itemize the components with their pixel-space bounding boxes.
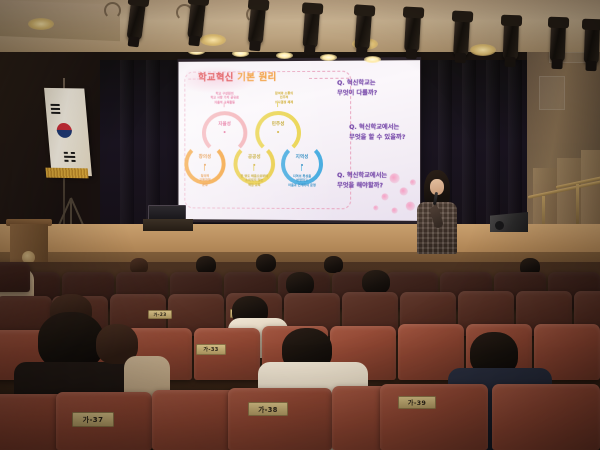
trigram-bar [71,160,75,162]
slide-title-part2: 기본 원리 [237,72,276,83]
stage-light-fixture [354,11,372,50]
auditorium-seat [0,262,30,292]
auditorium-scene: 학교혁신 기본 원리 학교 구성원의 학교 사항 가치 공유로 자율적 교육활동… [0,0,600,450]
seat-number-plate: 가-33 [196,344,226,355]
diagram-top-description-0: 학교 구성원의 학교 사항 가치 공유로 자율적 교육활동 [200,91,249,104]
diagram-node-stem-1 [277,102,278,107]
diagram-node-dot-0 [224,131,226,133]
audience-head [256,254,276,272]
light-yoke [104,2,121,19]
flag-fringe [45,168,88,179]
ceiling-downlight-icon [28,18,54,30]
downlight-icon [364,56,381,63]
trigram-bar [64,152,68,154]
stage-light-fixture [550,24,566,63]
projection-screen-frame: 학교혁신 기본 원리 학교 구성원의 학교 사항 가치 공유로 자율적 교육활동… [178,57,422,224]
cherry-blossom-icon [400,187,408,195]
auditorium-seat [492,384,600,450]
diagram-node-label-1: 민주성 [261,123,295,128]
stage-light-fixture [503,22,519,61]
auditorium-seat [228,388,332,450]
ceiling-downlight-icon [200,34,226,46]
av-table [143,219,193,231]
trigram-bar [64,156,75,158]
ceiling-downlight-icon [470,44,496,56]
diagram-node-stem-4 [301,166,302,171]
cherry-blossom-icon [406,202,415,211]
diagram-node-stem-3 [253,166,254,171]
diagram-node-stem-0 [224,102,225,107]
ceiling-beam-left [0,0,120,41]
korean-flag [44,88,92,176]
audience-head [324,256,343,273]
seat-number-plate: 가-39 [398,396,436,409]
downlight-icon [320,54,337,61]
trigram-bar [64,160,68,162]
diagram-node-dot-1 [277,131,279,133]
trigram-bar [51,108,60,110]
stage-light-fixture [404,14,421,53]
diagram-bottom-description-1: 한 명도 배움으로부터 소외되지 않는 책임 교육 [233,174,275,187]
downlight-icon [276,52,293,59]
diagram-top-description-1: 참여와 소통의 민주적 의사결정 체제 [261,91,307,104]
cherry-blossom-icon [373,205,378,210]
cherry-blossom-icon [392,208,398,214]
taeguk-blue [57,130,73,138]
slide-question-1: Q. 혁신학교에서는 무엇을 할 수 있을까? [349,123,405,142]
diagram-node-label-4: 지역성 [285,156,319,161]
slide-title-part1: 학교혁신 [198,72,234,83]
stage-light-fixture [302,9,320,48]
diagram-node-label-2: 창의성 [188,156,221,161]
stage-light-fixture [584,26,600,65]
diagram-node-stem-2 [204,166,205,171]
wall-poster [539,76,565,110]
audience-head [362,270,390,294]
trigram-bar [50,104,59,106]
diagram-bottom-description-2: 지역의 특성을 반영하고 마을과 연계하여 운영 [281,174,323,187]
slide-question-0: Q. 혁신학교는 무엇이 다를까? [337,79,377,99]
slide-question-2: Q. 혁신학교에서는 무엇을 해야할까? [337,171,387,191]
seat-number-plate: 가-37 [72,412,114,427]
slide-title: 학교혁신 기본 원리 [198,73,277,83]
cherry-blossom-icon [410,179,416,185]
diagram-bottom-description-0: 창의적 교육과정 운영 [188,174,221,187]
seat-number-plate: 가-23 [148,310,172,319]
cherry-blossom-icon [381,193,388,200]
projection-screen: 학교혁신 기본 원리 학교 구성원의 학교 사항 가치 공유로 자율적 교육활동… [178,60,420,221]
diagram-node-label-0: 자율성 [208,123,242,128]
diagram-node-label-3: 공공성 [237,156,271,161]
trigram-bar [71,152,75,154]
auditorium-seat [380,384,488,450]
seat-number-plate: 가-38 [248,402,288,416]
cherry-blossom-icon [390,173,400,183]
trigram-bar [51,112,60,114]
stage-light-fixture [453,18,470,57]
